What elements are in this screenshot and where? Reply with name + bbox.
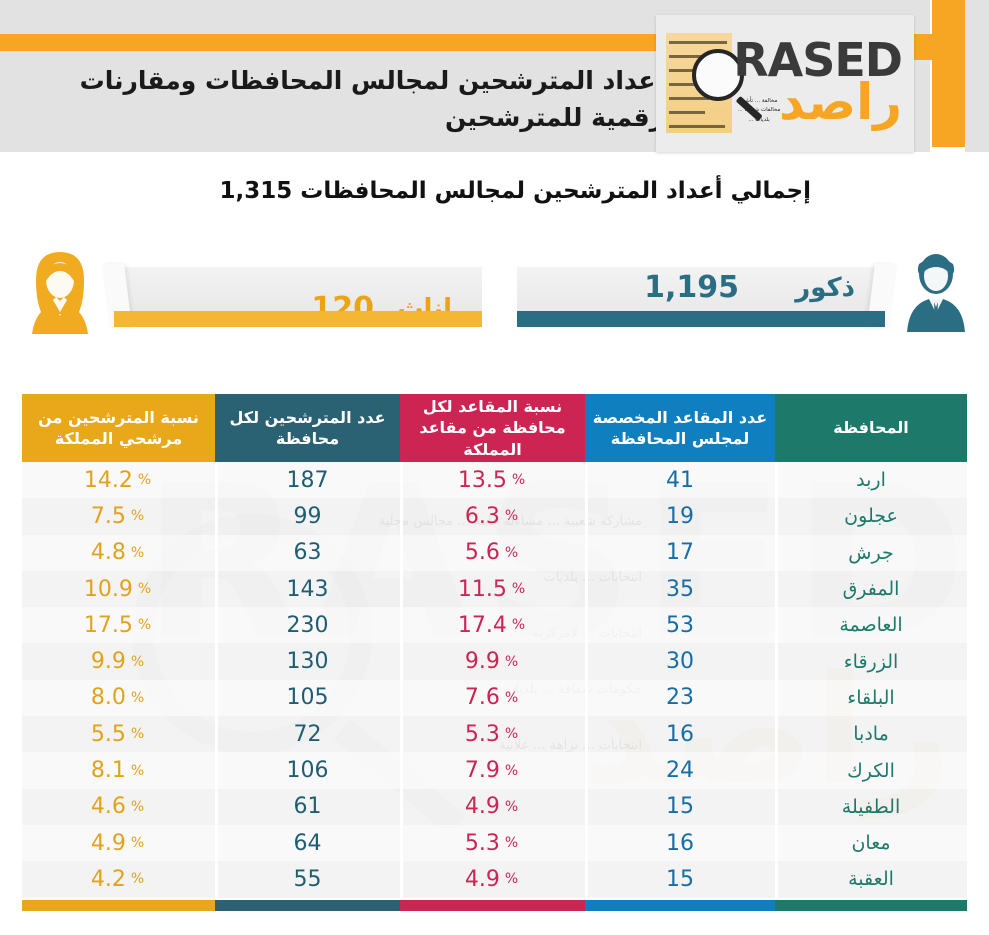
percent-symbol: %	[131, 545, 144, 561]
table-cell-seats: 23	[585, 680, 775, 716]
cell-value: 7.6	[465, 685, 500, 710]
column-header-pct_candidates: نسبة المترشحين من مرشحي المملكة	[22, 394, 215, 462]
column-header-pct_seats: نسبة المقاعد لكل محافظة من مقاعد المملكة	[400, 394, 585, 462]
percent-symbol: %	[505, 799, 518, 815]
table-cell-candidates: 105	[215, 680, 400, 716]
column-footer-pct_seats	[400, 900, 585, 911]
table-cell-candidates: 72	[215, 716, 400, 752]
table-cell-pct_candidates: 4.9%	[22, 825, 215, 861]
column-body-governorate: اربدعجلونجرشالمفرقالعاصمةالزرقاءالبلقاءم…	[775, 462, 967, 900]
cell-value: 4.2	[91, 867, 126, 892]
table-cell-candidates: 55	[215, 861, 400, 897]
table-cell-seats: 19	[585, 498, 775, 534]
table-cell-seats: 15	[585, 861, 775, 897]
percent-symbol: %	[505, 654, 518, 670]
table-cell-pct_seats: 4.9%	[400, 789, 585, 825]
table-cell-pct_seats: 6.3%	[400, 498, 585, 534]
cell-value: 6.3	[465, 504, 500, 529]
table-cell-governorate: اربد	[775, 462, 967, 498]
column-separator	[400, 462, 403, 900]
table-cell-governorate: الزرقاء	[775, 643, 967, 679]
table-cell-seats: 16	[585, 825, 775, 861]
cell-value: 7.9	[465, 758, 500, 783]
table-cell-pct_seats: 17.4%	[400, 607, 585, 643]
column-separator	[215, 462, 218, 900]
percent-symbol: %	[138, 581, 151, 597]
percent-symbol: %	[505, 763, 518, 779]
table-cell-seats: 53	[585, 607, 775, 643]
male-value: 1,195	[644, 270, 739, 305]
table-cell-pct_candidates: 4.2%	[22, 861, 215, 897]
table-cell-pct_seats: 9.9%	[400, 643, 585, 679]
table-cell-candidates: 143	[215, 571, 400, 607]
table-cell-governorate: البلقاء	[775, 680, 967, 716]
cell-value: 14.2	[84, 468, 133, 493]
percent-symbol: %	[138, 617, 151, 633]
cell-value: 11.5	[458, 577, 507, 602]
percent-symbol: %	[512, 617, 525, 633]
table-cell-pct_seats: 5.6%	[400, 535, 585, 571]
table-columns: نسبة المترشحين من مرشحي المملكة14.2%7.5%…	[22, 394, 967, 911]
cell-value: 17.4	[458, 613, 507, 638]
table-cell-pct_seats: 13.5%	[400, 462, 585, 498]
cell-value: 5.5	[91, 722, 126, 747]
cell-value: 5.3	[465, 722, 500, 747]
table-cell-governorate: المفرق	[775, 571, 967, 607]
percent-symbol: %	[131, 654, 144, 670]
table-cell-pct_candidates: 7.5%	[22, 498, 215, 534]
cell-value: 8.0	[91, 685, 126, 710]
female-bar-surface: إناث 120	[124, 267, 482, 311]
table-cell-governorate: عجلون	[775, 498, 967, 534]
table-cell-candidates: 63	[215, 535, 400, 571]
table-column-seats: عدد المقاعد المخصصة لمجلس المحافظة411917…	[585, 394, 775, 911]
table-cell-pct_candidates: 4.8%	[22, 535, 215, 571]
table-cell-pct_candidates: 17.5%	[22, 607, 215, 643]
table-cell-seats: 24	[585, 752, 775, 788]
table-cell-governorate: مادبا	[775, 716, 967, 752]
cell-value: 4.9	[465, 794, 500, 819]
table-cell-governorate: العاصمة	[775, 607, 967, 643]
table-cell-seats: 41	[585, 462, 775, 498]
table-cell-candidates: 187	[215, 462, 400, 498]
table-cell-pct_candidates: 8.0%	[22, 680, 215, 716]
table-cell-seats: 15	[585, 789, 775, 825]
table-cell-candidates: 64	[215, 825, 400, 861]
percent-symbol: %	[131, 690, 144, 706]
column-footer-candidates	[215, 900, 400, 911]
column-body-pct_seats: 13.5%6.3%5.6%11.5%17.4%9.9%7.6%5.3%7.9%4…	[400, 462, 585, 900]
cell-value: 5.3	[465, 831, 500, 856]
page-title: أعداد المترشحين لمجالس المحافظات ومقارنا…	[24, 62, 664, 136]
table-cell-governorate: معان	[775, 825, 967, 861]
table-cell-seats: 35	[585, 571, 775, 607]
header-accent-vertical-bar	[932, 0, 965, 147]
table-cell-pct_seats: 5.3%	[400, 825, 585, 861]
table-cell-governorate: الطفيلة	[775, 789, 967, 825]
gender-breakdown: ذكور 1,195 إناث 120	[0, 246, 989, 346]
percent-symbol: %	[138, 472, 151, 488]
cell-value: 7.5	[91, 504, 126, 529]
page-title-line-2: رقمية للمترشحين	[24, 99, 664, 136]
percent-symbol: %	[505, 690, 518, 706]
cell-value: 9.9	[465, 649, 500, 674]
table-cell-pct_candidates: 8.1%	[22, 752, 215, 788]
cell-value: 4.9	[91, 831, 126, 856]
table-cell-candidates: 230	[215, 607, 400, 643]
table-cell-candidates: 61	[215, 789, 400, 825]
column-footer-pct_candidates	[22, 900, 215, 911]
cell-value: 9.9	[91, 649, 126, 674]
table-cell-governorate: العقبة	[775, 861, 967, 897]
male-bar-base	[517, 311, 885, 327]
table-cell-pct_seats: 11.5%	[400, 571, 585, 607]
table-cell-candidates: 106	[215, 752, 400, 788]
table-column-candidates: عدد المترشحين لكل محافظة1879963143230130…	[215, 394, 400, 911]
percent-symbol: %	[131, 799, 144, 815]
column-separator	[775, 462, 778, 900]
logo-text-ar: راصد	[779, 73, 902, 131]
table-cell-candidates: 130	[215, 643, 400, 679]
column-body-candidates: 187996314323013010572106616455	[215, 462, 400, 900]
table-cell-seats: 30	[585, 643, 775, 679]
male-label: ذكور	[795, 273, 855, 303]
female-stat-panel: إناث 120	[6, 246, 492, 346]
table-cell-pct_candidates: 5.5%	[22, 716, 215, 752]
column-separator	[585, 462, 588, 900]
table-cell-candidates: 99	[215, 498, 400, 534]
cell-value: 10.9	[84, 577, 133, 602]
table-cell-governorate: جرش	[775, 535, 967, 571]
table-cell-pct_candidates: 9.9%	[22, 643, 215, 679]
page-title-line-1: أعداد المترشحين لمجالس المحافظات ومقارنا…	[24, 62, 664, 99]
cell-value: 17.5	[84, 613, 133, 638]
percent-symbol: %	[505, 508, 518, 524]
percent-symbol: %	[131, 726, 144, 742]
percent-symbol: %	[131, 763, 144, 779]
rased-logo: مخالفة ... تأشير مخالفات شفافة ... بلديا…	[656, 15, 914, 152]
table-cell-seats: 17	[585, 535, 775, 571]
table-column-pct_candidates: نسبة المترشحين من مرشحي المملكة14.2%7.5%…	[22, 394, 215, 911]
column-header-candidates: عدد المترشحين لكل محافظة	[215, 394, 400, 462]
total-candidates-subtitle: إجمالي أعداد المترشحين لمجالس المحافظات …	[220, 178, 812, 204]
percent-symbol: %	[512, 581, 525, 597]
column-body-seats: 411917355330231624151615	[585, 462, 775, 900]
percent-symbol: %	[505, 545, 518, 561]
female-avatar-icon	[16, 250, 104, 334]
percent-symbol: %	[505, 726, 518, 742]
cell-value: 8.1	[91, 758, 126, 783]
cell-value: 4.6	[91, 794, 126, 819]
table-cell-pct_candidates: 14.2%	[22, 462, 215, 498]
table-column-governorate: المحافظةاربدعجلونجرشالمفرقالعاصمةالزرقاء…	[775, 394, 967, 911]
percent-symbol: %	[131, 508, 144, 524]
column-header-seats: عدد المقاعد المخصصة لمجلس المحافظة	[585, 394, 775, 462]
percent-symbol: %	[505, 835, 518, 851]
table-cell-pct_seats: 7.6%	[400, 680, 585, 716]
table-cell-seats: 16	[585, 716, 775, 752]
header-right-gray-strip	[965, 0, 989, 152]
cell-value: 13.5	[458, 468, 507, 493]
column-footer-governorate	[775, 900, 967, 911]
column-footer-seats	[585, 900, 775, 911]
table-cell-pct_seats: 4.9%	[400, 861, 585, 897]
table-cell-pct_candidates: 4.6%	[22, 789, 215, 825]
cell-value: 5.6	[465, 540, 500, 565]
table-column-pct_seats: نسبة المقاعد لكل محافظة من مقاعد المملكة…	[400, 394, 585, 911]
table-cell-pct_seats: 7.9%	[400, 752, 585, 788]
percent-symbol: %	[512, 472, 525, 488]
column-body-pct_candidates: 14.2%7.5%4.8%10.9%17.5%9.9%8.0%5.5%8.1%4…	[22, 462, 215, 900]
percent-symbol: %	[505, 871, 518, 887]
female-bar-base	[114, 311, 482, 327]
cell-value: 4.8	[91, 540, 126, 565]
infographic-page: أعداد المترشحين لمجالس المحافظات ومقارنا…	[0, 0, 989, 935]
column-header-governorate: المحافظة	[775, 394, 967, 462]
percent-symbol: %	[131, 835, 144, 851]
male-stat-panel: ذكور 1,195	[497, 246, 983, 346]
cell-value: 4.9	[465, 867, 500, 892]
governorates-table: RASED راصد مشاركة شعبية ... مساءلة عامة …	[22, 394, 967, 911]
table-cell-pct_seats: 5.3%	[400, 716, 585, 752]
male-avatar-icon	[893, 250, 979, 332]
table-cell-pct_candidates: 10.9%	[22, 571, 215, 607]
table-cell-governorate: الكرك	[775, 752, 967, 788]
percent-symbol: %	[131, 871, 144, 887]
